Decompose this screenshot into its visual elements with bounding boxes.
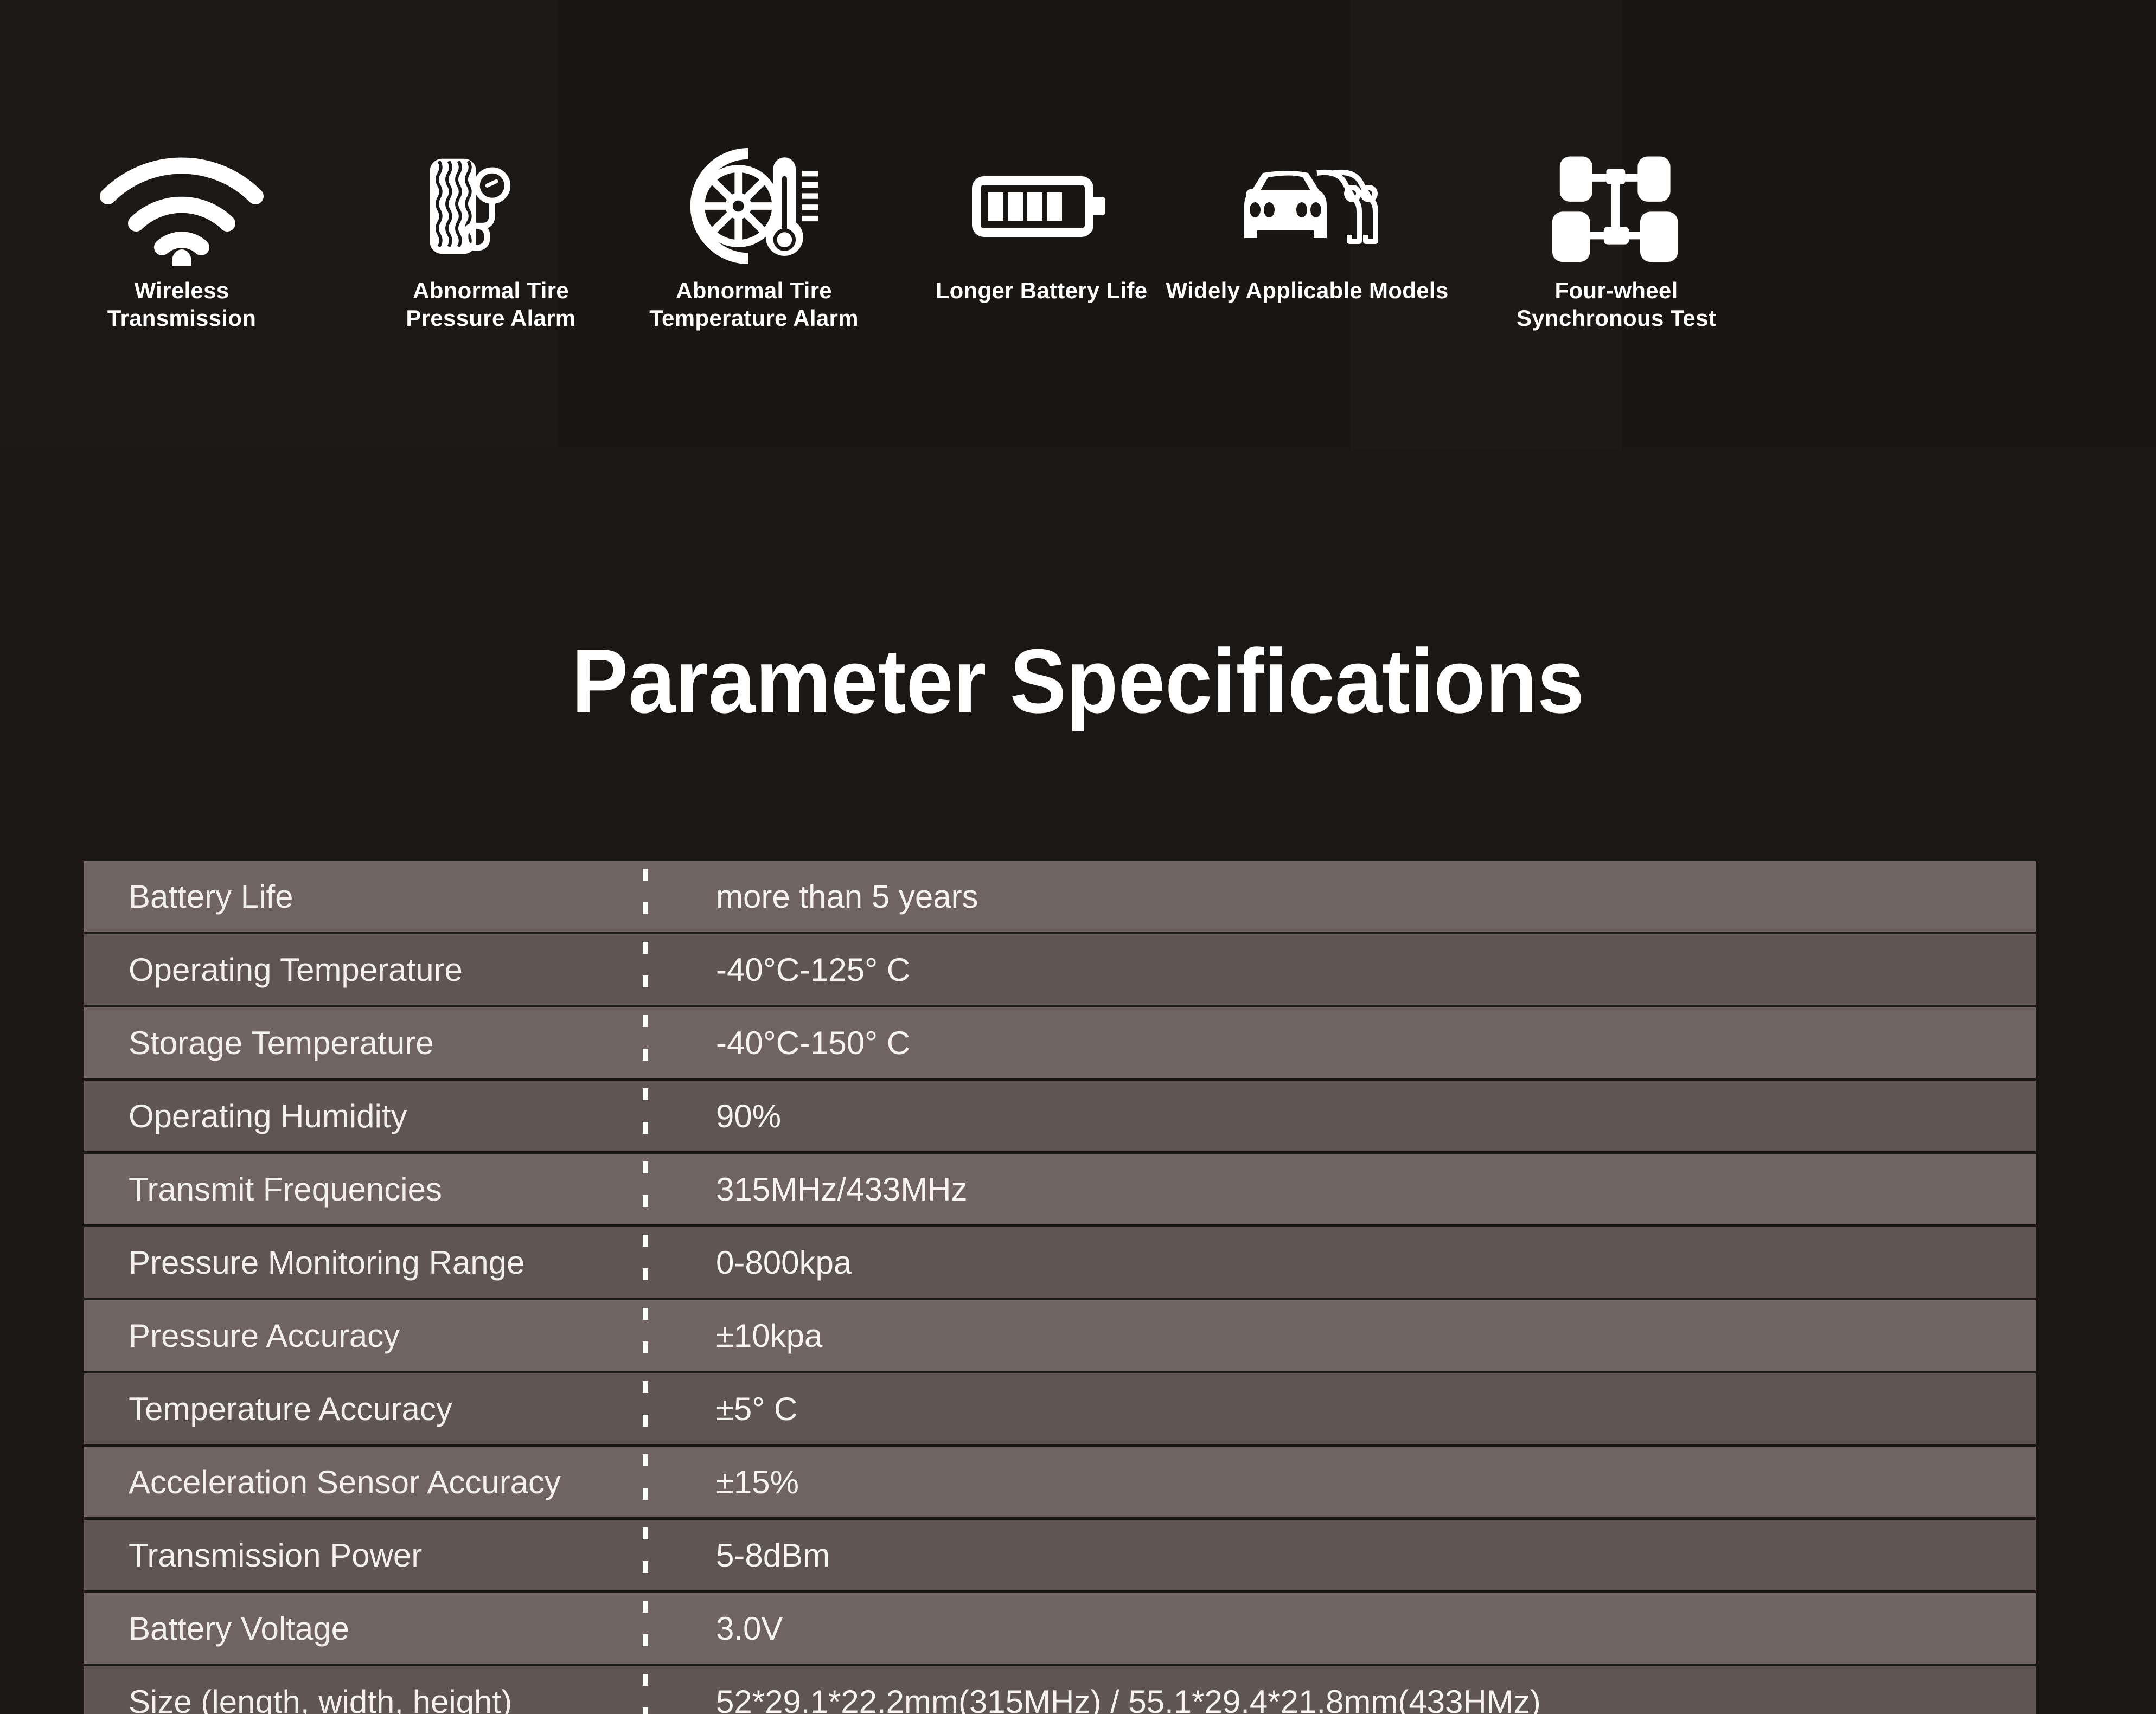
feature-item-tire-temperature-alarm: Abnormal Tire Temperature Alarm bbox=[602, 136, 906, 332]
feature-item-widely-applicable-models: Widely Applicable Models bbox=[1161, 136, 1454, 304]
feature-item-tire-pressure-alarm: Abnormal Tire Pressure Alarm bbox=[347, 136, 635, 332]
product-spec-page: Wireless Transmission bbox=[0, 0, 2156, 1714]
spec-parameter-value: 90% bbox=[643, 1097, 2036, 1135]
table-row: Operating Temperature-40°C-125° C bbox=[84, 934, 2036, 1005]
spec-parameter-name: Pressure Monitoring Range bbox=[84, 1244, 643, 1281]
table-row: Pressure Monitoring Range0-800kpa bbox=[84, 1227, 2036, 1298]
page-title: Parameter Specifications bbox=[75, 629, 2081, 734]
spec-parameter-value: 315MHz/433MHz bbox=[643, 1171, 2036, 1208]
feature-label: Longer Battery Life bbox=[890, 277, 1193, 304]
column-divider bbox=[643, 1154, 648, 1224]
table-row: Acceleration Sensor Accuracy±15% bbox=[84, 1447, 2036, 1517]
feature-item-four-wheel-synchronous-test: Four-wheel Synchronous Test bbox=[1464, 136, 1768, 332]
feature-label: Abnormal Tire Pressure Alarm bbox=[347, 277, 635, 332]
column-divider bbox=[643, 1520, 648, 1590]
column-divider bbox=[643, 1447, 648, 1517]
table-row: Transmit Frequencies315MHz/433MHz bbox=[84, 1154, 2036, 1224]
spec-parameter-value: 5-8dBm bbox=[643, 1537, 2036, 1574]
spec-parameter-value: more than 5 years bbox=[643, 878, 2036, 915]
wheel-thermometer-icon bbox=[602, 136, 906, 277]
tire-pressure-gauge-icon bbox=[347, 136, 635, 277]
table-row: Storage Temperature-40°C-150° C bbox=[84, 1007, 2036, 1078]
parameter-specifications-table: Battery Lifemore than 5 yearsOperating T… bbox=[84, 861, 2036, 1714]
column-divider bbox=[643, 1373, 648, 1444]
spec-parameter-value: 3.0V bbox=[643, 1610, 2036, 1647]
spec-parameter-name: Acceleration Sensor Accuracy bbox=[84, 1463, 643, 1501]
table-row: Size (length, width, height)52*29.1*22.2… bbox=[84, 1666, 2036, 1714]
feature-item-longer-battery-life: Longer Battery Life bbox=[890, 136, 1193, 304]
spec-parameter-value: -40°C-125° C bbox=[643, 951, 2036, 988]
table-row: Battery Lifemore than 5 years bbox=[84, 861, 2036, 932]
spec-parameter-value: -40°C-150° C bbox=[643, 1024, 2036, 1062]
spec-parameter-value: 52*29.1*22.2mm(315MHz) / 55.1*29.4*21.8m… bbox=[643, 1683, 2036, 1714]
cars-icon bbox=[1161, 136, 1454, 277]
spec-parameter-name: Transmit Frequencies bbox=[84, 1171, 643, 1208]
table-row: Temperature Accuracy±5° C bbox=[84, 1373, 2036, 1444]
feature-strip: Wireless Transmission bbox=[0, 136, 2156, 428]
column-divider bbox=[643, 934, 648, 1005]
spec-parameter-name: Pressure Accuracy bbox=[84, 1317, 643, 1354]
feature-item-wireless-transmission: Wireless Transmission bbox=[0, 136, 363, 332]
spec-parameter-name: Battery Voltage bbox=[84, 1610, 643, 1647]
spec-parameter-value: ±5° C bbox=[643, 1390, 2036, 1428]
spec-parameter-value: ±10kpa bbox=[643, 1317, 2036, 1354]
spec-parameter-name: Transmission Power bbox=[84, 1537, 643, 1574]
table-row: Operating Humidity90% bbox=[84, 1081, 2036, 1151]
table-row: Battery Voltage3.0V bbox=[84, 1593, 2036, 1664]
feature-label: Abnormal Tire Temperature Alarm bbox=[602, 277, 906, 332]
spec-parameter-name: Size (length, width, height) bbox=[84, 1683, 643, 1714]
spec-parameter-value: 0-800kpa bbox=[643, 1244, 2036, 1281]
spec-parameter-name: Battery Life bbox=[84, 878, 643, 915]
column-divider bbox=[643, 1593, 648, 1664]
spec-parameter-name: Storage Temperature bbox=[84, 1024, 643, 1062]
wifi-icon bbox=[0, 136, 363, 277]
table-row: Transmission Power5-8dBm bbox=[84, 1520, 2036, 1590]
four-wheel-axle-icon bbox=[1464, 136, 1768, 277]
column-divider bbox=[643, 1227, 648, 1298]
spec-parameter-name: Temperature Accuracy bbox=[84, 1390, 643, 1428]
column-divider bbox=[643, 1007, 648, 1078]
spec-parameter-name: Operating Humidity bbox=[84, 1097, 643, 1135]
column-divider bbox=[643, 1081, 648, 1151]
spec-parameter-name: Operating Temperature bbox=[84, 951, 643, 988]
column-divider bbox=[643, 861, 648, 932]
column-divider bbox=[643, 1300, 648, 1371]
column-divider bbox=[643, 1666, 648, 1714]
battery-icon bbox=[890, 136, 1193, 277]
feature-label: Wireless Transmission bbox=[0, 277, 363, 332]
feature-label: Four-wheel Synchronous Test bbox=[1464, 277, 1768, 332]
feature-label: Widely Applicable Models bbox=[1161, 277, 1454, 304]
table-row: Pressure Accuracy±10kpa bbox=[84, 1300, 2036, 1371]
spec-parameter-value: ±15% bbox=[643, 1463, 2036, 1501]
